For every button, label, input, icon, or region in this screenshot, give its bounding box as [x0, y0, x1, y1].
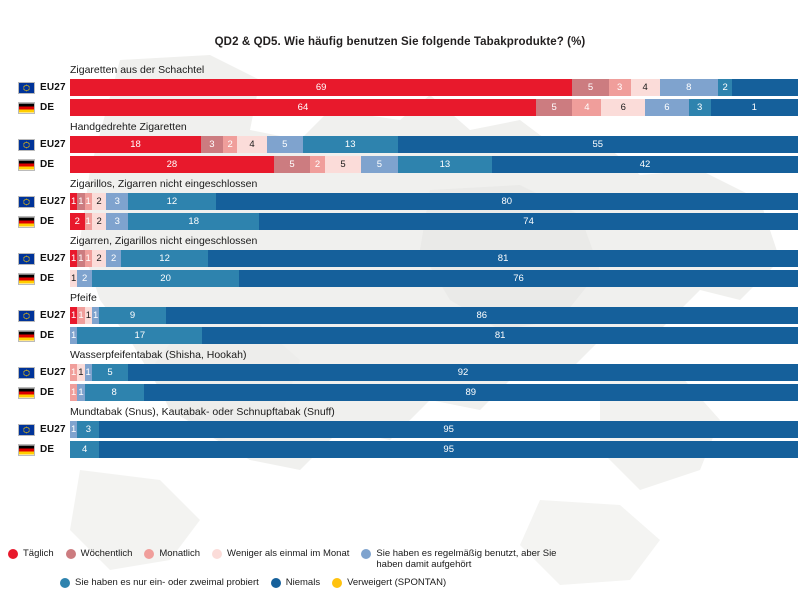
chart-bar-row: DE495	[0, 441, 800, 458]
bar-segment[interactable]: 18	[128, 213, 259, 230]
bar-segment[interactable]: 89	[144, 384, 798, 401]
bar-segment[interactable]: 2	[310, 156, 325, 173]
bar-row-head: DE	[0, 216, 70, 228]
bar-segment[interactable]: 1	[77, 364, 84, 381]
segment-value-label: 5	[551, 99, 556, 116]
stacked-bar[interactable]: 122076	[70, 270, 798, 287]
segment-value-label: 2	[315, 156, 320, 173]
bar-segment[interactable]: 2	[77, 270, 92, 287]
bar-segment[interactable]: 1	[70, 307, 77, 324]
segment-value-label: 1	[78, 307, 83, 324]
segment-value-label: 4	[82, 441, 87, 458]
bar-segment[interactable]: 1	[77, 384, 84, 401]
stacked-bar[interactable]: 6953482	[70, 79, 798, 96]
entity-label: DE	[40, 387, 54, 398]
segment-value-label: 1	[71, 250, 76, 267]
bar-segment[interactable]: 4	[70, 441, 99, 458]
bar-segment[interactable]: 13	[398, 156, 493, 173]
bar-row-head: EU27	[0, 82, 70, 94]
bar-segment[interactable]: 12	[121, 250, 208, 267]
de-flag-icon	[18, 216, 35, 228]
stacked-bar[interactable]: 1395	[70, 421, 798, 438]
legend-label: Sie haben es regelmäßig benutzt, aber Si…	[376, 548, 576, 571]
segment-value-label: 80	[501, 193, 512, 210]
bar-segment[interactable]: 95	[99, 421, 798, 438]
bar-row-head: DE	[0, 102, 70, 114]
bar-row-head: DE	[0, 273, 70, 285]
segment-value-label: 1	[86, 307, 91, 324]
chart-bar-row: DE64546631	[0, 99, 800, 116]
stacked-bar[interactable]: 11889	[70, 384, 798, 401]
segment-value-label: 5	[107, 364, 112, 381]
segment-value-label: 1	[71, 270, 76, 287]
group-category-label: Wasserpfeifentabak (Shisha, Hookah)	[70, 349, 800, 361]
bar-segment[interactable]: 13	[303, 136, 398, 153]
bar-row-head: DE	[0, 330, 70, 342]
legend-label: Weniger als einmal im Monat	[227, 548, 349, 560]
chart-group: Zigaretten aus der SchachtelEU276953482D…	[0, 64, 800, 116]
chart-bar-row: EU271395	[0, 421, 800, 438]
segment-value-label: 2	[96, 250, 101, 267]
bar-segment[interactable]: 81	[202, 327, 798, 344]
segment-value-label: 8	[686, 79, 691, 96]
bar-row-head: EU27	[0, 310, 70, 322]
bar-segment[interactable]: 3	[77, 421, 99, 438]
bar-segment[interactable]: 1	[70, 270, 77, 287]
bar-segment[interactable]: 1	[92, 307, 99, 324]
bar-segment[interactable]: 2	[70, 213, 85, 230]
entity-label: DE	[40, 444, 54, 455]
eu-flag-icon	[18, 367, 35, 379]
segment-value-label: 12	[167, 193, 178, 210]
legend-dot-aufgehoert	[361, 549, 371, 559]
bar-segment[interactable]: 18	[70, 136, 201, 153]
stacked-bar[interactable]: 495	[70, 441, 798, 458]
bar-segment[interactable]: 42	[492, 156, 798, 173]
bar-segment[interactable]: 1	[70, 384, 77, 401]
bar-segment[interactable]: 64	[70, 99, 536, 116]
entity-label: DE	[40, 216, 54, 227]
chart-bar-row: EU27111231280	[0, 193, 800, 210]
bar-segment[interactable]: 2	[106, 250, 121, 267]
chart-bar-row: EU276953482	[0, 79, 800, 96]
entity-label: EU27	[40, 310, 66, 321]
entity-label: EU27	[40, 196, 66, 207]
group-category-label: Zigarren, Zigarillos nicht eingeschlosse…	[70, 235, 800, 247]
bar-segment[interactable]: 1	[70, 250, 77, 267]
legend-item[interactable]: Monatlich	[144, 548, 200, 560]
segment-value-label: 81	[495, 327, 506, 344]
bar-segment[interactable]: 12	[128, 193, 215, 210]
chart-group: Mundtabak (Snus), Kautabak- oder Schnupf…	[0, 406, 800, 458]
segment-value-label: 18	[188, 213, 199, 230]
legend-row-2: Sie haben es nur ein- oder zweimal probi…	[8, 577, 792, 589]
segment-value-label: 17	[135, 327, 146, 344]
bar-segment[interactable]: 1	[77, 193, 84, 210]
chart-bar-row: EU27111221281	[0, 250, 800, 267]
bar-segment[interactable]: 76	[239, 270, 798, 287]
bar-segment[interactable]: 20	[92, 270, 239, 287]
segment-value-label: 1	[78, 250, 83, 267]
bar-segment[interactable]: 3	[106, 193, 128, 210]
de-flag-icon	[18, 330, 35, 342]
chart-bar-row: DE11889	[0, 384, 800, 401]
segment-value-label: 95	[443, 441, 454, 458]
stacked-bar[interactable]: 1111986	[70, 307, 798, 324]
bar-segment[interactable]: 4	[631, 79, 660, 96]
bar-segment[interactable]: 2	[92, 213, 107, 230]
segment-value-label: 1	[86, 250, 91, 267]
segment-value-label: 2	[82, 270, 87, 287]
bar-segment[interactable]: 6	[645, 99, 689, 116]
bar-row-head: EU27	[0, 196, 70, 208]
segment-value-label: 1	[86, 193, 91, 210]
bar-segment[interactable]: 1	[70, 421, 77, 438]
stacked-bar[interactable]: 64546631	[70, 99, 798, 116]
segment-value-label: 2	[227, 136, 232, 153]
segment-value-label: 5	[588, 79, 593, 96]
segment-value-label: 1	[71, 364, 76, 381]
segment-value-label: 5	[377, 156, 382, 173]
stacked-bar[interactable]: 11781	[70, 327, 798, 344]
entity-label: EU27	[40, 253, 66, 264]
segment-value-label: 1	[71, 307, 76, 324]
group-category-label: Handgedrehte Zigaretten	[70, 121, 800, 133]
bar-segment[interactable]: 3	[106, 213, 128, 230]
segment-value-label: 1	[71, 421, 76, 438]
bar-segment[interactable]: 6	[601, 99, 645, 116]
bar-row-head: DE	[0, 159, 70, 171]
bar-segment[interactable]: 86	[166, 307, 798, 324]
chart-bar-row: DE11781	[0, 327, 800, 344]
segment-value-label: 2	[96, 193, 101, 210]
segment-value-label: 13	[440, 156, 451, 173]
eu-flag-icon	[18, 82, 35, 94]
bar-segment[interactable]: 1	[85, 250, 92, 267]
bar-segment[interactable]: 1	[85, 307, 92, 324]
segment-value-label: 6	[664, 99, 669, 116]
legend-item[interactable]: Täglich	[8, 548, 54, 560]
eu-flag-icon	[18, 310, 35, 322]
bar-segment[interactable]: 5	[361, 156, 397, 173]
bar-segment[interactable]: 4	[572, 99, 601, 116]
segment-value-label: 9	[130, 307, 135, 324]
bar-segment[interactable]: 1	[85, 193, 92, 210]
chart-group: Zigarren, Zigarillos nicht eingeschlosse…	[0, 235, 800, 287]
segment-value-label: 18	[130, 136, 141, 153]
bar-row-head: EU27	[0, 367, 70, 379]
chart-bar-row: DE21231874	[0, 213, 800, 230]
legend-label: Verweigert (SPONTAN)	[347, 577, 446, 589]
bar-segment[interactable]: 92	[128, 364, 798, 381]
bar-segment[interactable]: 3	[689, 99, 711, 116]
de-flag-icon	[18, 159, 35, 171]
bar-segment[interactable]: 95	[99, 441, 798, 458]
bar-segment[interactable]: 1	[77, 250, 84, 267]
stacked-bar[interactable]: 2852551342	[70, 156, 798, 173]
bar-segment[interactable]: 8	[85, 384, 144, 401]
entity-label: EU27	[40, 424, 66, 435]
chart-group: Handgedrehte ZigarettenEU271832451355DE2…	[0, 121, 800, 173]
legend-label: Sie haben es nur ein- oder zweimal probi…	[75, 577, 259, 589]
segment-value-label: 69	[316, 79, 327, 96]
stacked-bar[interactable]: 1832451355	[70, 136, 798, 153]
entity-label: DE	[40, 159, 54, 170]
bar-segment[interactable]: 4	[237, 136, 266, 153]
de-flag-icon	[18, 444, 35, 456]
entity-label: DE	[40, 330, 54, 341]
segment-value-label: 74	[523, 213, 534, 230]
bar-row-head: DE	[0, 444, 70, 456]
de-flag-icon	[18, 102, 35, 114]
segment-value-label: 86	[476, 307, 487, 324]
bar-segment[interactable]: 5	[572, 79, 608, 96]
segment-value-label: 2	[96, 213, 101, 230]
segment-value-label: 5	[340, 156, 345, 173]
de-flag-icon	[18, 273, 35, 285]
chart-bar-row: DE122076	[0, 270, 800, 287]
chart-group: Zigarillos, Zigarren nicht eingeschlosse…	[0, 178, 800, 230]
chart-legend: TäglichWöchentlichMonatlichWeniger als e…	[0, 548, 800, 595]
bar-segment[interactable]: 80	[216, 193, 798, 210]
legend-dot-niemals	[271, 578, 281, 588]
legend-item[interactable]: Niemals	[271, 577, 320, 589]
legend-dot-probiert	[60, 578, 70, 588]
stacked-bar[interactable]: 21231874	[70, 213, 798, 230]
segment-value-label: 95	[443, 421, 454, 438]
bar-row-head: DE	[0, 387, 70, 399]
stacked-bar[interactable]: 111221281	[70, 250, 798, 267]
bar-segment[interactable]: 81	[208, 250, 798, 267]
segment-value-label: 64	[298, 99, 309, 116]
bar-segment[interactable]: 1	[85, 364, 92, 381]
segment-value-label: 2	[75, 213, 80, 230]
segment-value-label: 76	[513, 270, 524, 287]
segment-value-label: 1	[93, 307, 98, 324]
legend-label: Täglich	[23, 548, 54, 560]
group-category-label: Mundtabak (Snus), Kautabak- oder Schnupf…	[70, 406, 800, 418]
bar-segment[interactable]: 5	[536, 99, 572, 116]
bar-segment[interactable]: 5	[267, 136, 303, 153]
bar-segment[interactable]: 2	[92, 193, 107, 210]
entity-label: DE	[40, 102, 54, 113]
bar-segment[interactable]: 74	[259, 213, 798, 230]
segment-value-label: 3	[86, 421, 91, 438]
bar-segment[interactable]: 2	[718, 79, 733, 96]
chart-groups: Zigaretten aus der SchachtelEU276953482D…	[0, 64, 800, 458]
bar-segment[interactable]: 2	[92, 250, 107, 267]
bar-row-head: EU27	[0, 139, 70, 151]
bar-segment[interactable]: 5	[92, 364, 128, 381]
entity-label: EU27	[40, 367, 66, 378]
segment-value-label: 3	[209, 136, 214, 153]
segment-value-label: 92	[458, 364, 469, 381]
legend-dot-monatlich	[144, 549, 154, 559]
segment-value-label: 1	[86, 364, 91, 381]
chart-group: PfeifeEU271111986DE11781	[0, 292, 800, 344]
legend-item[interactable]: Verweigert (SPONTAN)	[332, 577, 446, 589]
legend-item[interactable]: Sie haben es nur ein- oder zweimal probi…	[60, 577, 259, 589]
segment-value-label: 8	[111, 384, 116, 401]
bar-segment[interactable]: 5	[325, 156, 361, 173]
segment-value-label: 3	[617, 79, 622, 96]
stacked-bar[interactable]: 111592	[70, 364, 798, 381]
bar-segment[interactable]: 55	[398, 136, 798, 153]
segment-value-label: 3	[115, 213, 120, 230]
eu-flag-icon	[18, 196, 35, 208]
legend-label: Monatlich	[159, 548, 200, 560]
bar-segment[interactable]: 1	[77, 307, 84, 324]
group-category-label: Zigarillos, Zigarren nicht eingeschlosse…	[70, 178, 800, 190]
bar-segment[interactable]: 69	[70, 79, 572, 96]
segment-value-label: 89	[465, 384, 476, 401]
chart-bar-row: EU271111986	[0, 307, 800, 324]
legend-item[interactable]: Wöchentlich	[66, 548, 133, 560]
segment-value-label: 28	[167, 156, 178, 173]
segment-value-label: 1	[71, 193, 76, 210]
bar-segment[interactable]: 28	[70, 156, 274, 173]
bar-segment[interactable]: 3	[609, 79, 631, 96]
bar-segment[interactable]: 8	[660, 79, 718, 96]
bar-segment[interactable]: 1	[70, 193, 77, 210]
bar-segment[interactable]: 5	[274, 156, 310, 173]
eu-flag-icon	[18, 139, 35, 151]
segment-value-label: 81	[498, 250, 509, 267]
chart-group: Wasserpfeifentabak (Shisha, Hookah)EU271…	[0, 349, 800, 401]
legend-item[interactable]: Sie haben es regelmäßig benutzt, aber Si…	[361, 548, 576, 571]
eu-flag-icon	[18, 424, 35, 436]
chart-bar-row: DE2852551342	[0, 156, 800, 173]
chart-bar-row: EU271832451355	[0, 136, 800, 153]
bar-segment[interactable]: 3	[201, 136, 223, 153]
bar-segment[interactable]: 1	[85, 213, 92, 230]
segment-value-label: 4	[249, 136, 254, 153]
segment-value-label: 2	[111, 250, 116, 267]
segment-value-label: 2	[723, 79, 728, 96]
legend-dot-weniger	[212, 549, 222, 559]
segment-value-label: 5	[289, 156, 294, 173]
entity-label: DE	[40, 273, 54, 284]
chart-bar-row: EU27111592	[0, 364, 800, 381]
segment-value-label: 42	[640, 156, 651, 173]
segment-value-label: 55	[592, 136, 603, 153]
legend-dot-verweigert	[332, 578, 342, 588]
segment-value-label: 1	[71, 384, 76, 401]
legend-label: Wöchentlich	[81, 548, 133, 560]
segment-value-label: 12	[159, 250, 170, 267]
legend-label: Niemals	[286, 577, 320, 589]
bar-row-head: EU27	[0, 253, 70, 265]
segment-value-label: 1	[752, 99, 757, 116]
segment-value-label: 5	[282, 136, 287, 153]
segment-value-label: 1	[71, 327, 76, 344]
segment-value-label: 20	[160, 270, 171, 287]
group-category-label: Pfeife	[70, 292, 800, 304]
segment-value-label: 1	[78, 384, 83, 401]
legend-row-1: TäglichWöchentlichMonatlichWeniger als e…	[8, 548, 792, 571]
bar-segment[interactable]	[732, 79, 798, 96]
segment-value-label: 4	[642, 79, 647, 96]
segment-value-label: 6	[621, 99, 626, 116]
segment-value-label: 1	[78, 193, 83, 210]
legend-dot-woechentlich	[66, 549, 76, 559]
page-title: QD2 & QD5. Wie häufig benutzen Sie folge…	[0, 0, 800, 48]
bar-segment[interactable]: 1	[70, 364, 77, 381]
stacked-bar[interactable]: 111231280	[70, 193, 798, 210]
bar-segment[interactable]: 1	[711, 99, 798, 116]
bar-row-head: EU27	[0, 424, 70, 436]
segment-value-label: 3	[115, 193, 120, 210]
entity-label: EU27	[40, 139, 66, 150]
legend-dot-taeglich	[8, 549, 18, 559]
segment-value-label: 1	[86, 213, 91, 230]
segment-value-label: 4	[584, 99, 589, 116]
entity-label: EU27	[40, 82, 66, 93]
segment-value-label: 3	[697, 99, 702, 116]
segment-value-label: 13	[345, 136, 356, 153]
bar-segment[interactable]: 2	[223, 136, 238, 153]
chart-canvas: QD2 & QD5. Wie häufig benutzen Sie folge…	[0, 0, 800, 600]
bar-segment[interactable]: 17	[77, 327, 202, 344]
de-flag-icon	[18, 387, 35, 399]
legend-item[interactable]: Weniger als einmal im Monat	[212, 548, 349, 560]
group-category-label: Zigaretten aus der Schachtel	[70, 64, 800, 76]
bar-segment[interactable]: 9	[99, 307, 165, 324]
eu-flag-icon	[18, 253, 35, 265]
segment-value-label: 1	[78, 364, 83, 381]
bar-segment[interactable]: 1	[70, 327, 77, 344]
